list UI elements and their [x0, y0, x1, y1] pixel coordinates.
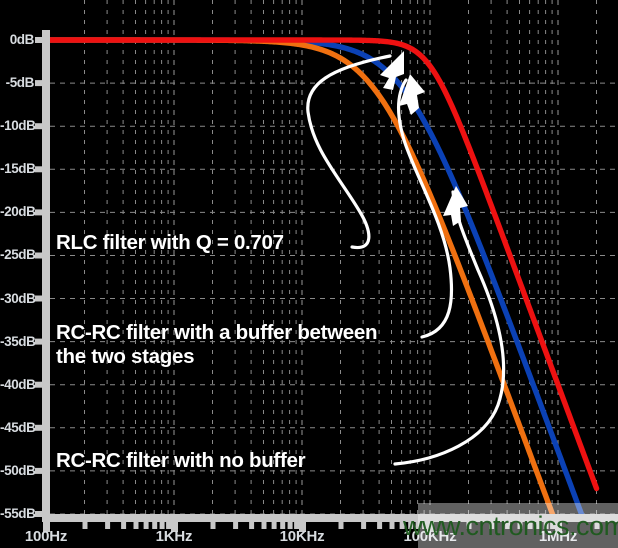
bode-plot-chart: 0dB-5dB-10dB-15dB-20dB-25dB-30dB-35dB-40… — [0, 0, 618, 548]
y-axis-label: -50dB — [0, 463, 34, 478]
annotation-nobuffer-filter: RC-RC filter with no buffer — [56, 449, 305, 473]
annotation-rlc-filter: RLC filter with Q = 0.707 — [56, 231, 284, 255]
x-axis-label: 10KHz — [252, 528, 352, 545]
y-axis-tick — [35, 339, 44, 345]
x-axis-label: 1KHz — [124, 528, 224, 545]
watermark-text: www.cntronics.com — [403, 511, 618, 542]
y-axis-label: 0dB — [0, 32, 34, 47]
y-axis-tick — [35, 253, 44, 259]
y-axis-label: -15dB — [0, 161, 34, 176]
y-axis-label: -40dB — [0, 377, 34, 392]
y-axis-line — [42, 30, 50, 522]
y-axis-tick — [35, 166, 44, 172]
annotation-buffered-line1: RC-RC filter with a buffer between — [56, 321, 377, 344]
annotation-buffered-line2: the two stages — [56, 345, 377, 369]
x-axis-label: 100Hz — [0, 528, 96, 545]
x-axis-tick-minor — [233, 521, 238, 529]
x-axis-tick-minor — [105, 521, 110, 529]
y-axis-tick — [35, 80, 44, 86]
y-axis-tick — [35, 296, 44, 302]
y-axis-tick — [35, 468, 44, 474]
y-axis-tick — [35, 382, 44, 388]
y-axis-label: -10dB — [0, 118, 34, 133]
y-axis-label: -30dB — [0, 291, 34, 306]
y-axis-label: -5dB — [0, 75, 34, 90]
y-axis-label: -55dB — [0, 506, 34, 521]
y-axis-tick — [35, 425, 44, 431]
annotation-buffered-filter: RC-RC filter with a buffer between the t… — [56, 321, 377, 369]
y-axis-label: -35dB — [0, 334, 34, 349]
y-axis-tick — [35, 37, 44, 43]
y-axis-tick — [35, 511, 44, 517]
y-axis-label: -45dB — [0, 420, 34, 435]
y-axis-tick — [35, 123, 44, 129]
y-axis-label: -25dB — [0, 247, 34, 262]
x-axis-tick-minor — [361, 521, 366, 529]
y-axis-tick — [35, 209, 44, 215]
y-axis-label: -20dB — [0, 204, 34, 219]
